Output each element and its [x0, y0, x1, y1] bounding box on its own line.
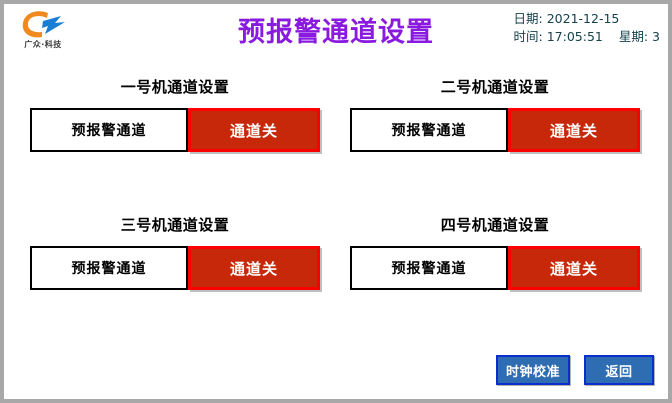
channel-label-1: 预报警通道 — [30, 108, 188, 152]
channel-panel-2: 二号机通道设置 预报警通道 通道关 — [350, 76, 640, 168]
clock-calibrate-button[interactable]: 时钟校准 — [496, 355, 570, 385]
date-label: 日期: — [514, 11, 543, 26]
panel-title-2: 二号机通道设置 — [350, 76, 640, 97]
panel-title-3: 三号机通道设置 — [30, 214, 320, 235]
panel-row-4: 预报警通道 通道关 — [350, 246, 640, 290]
time-value: 17:05:51 — [547, 29, 603, 44]
channel-panels-grid: 一号机通道设置 预报警通道 通道关 二号机通道设置 预报警通道 通道关 三号机通… — [4, 66, 668, 326]
channel-panel-3: 三号机通道设置 预报警通道 通道关 — [30, 214, 320, 306]
channel-label-3: 预报警通道 — [30, 246, 188, 290]
datetime-display: 日期: 2021-12-15 时间: 17:05:51 星期: 3 — [514, 10, 660, 46]
channel-label-2: 预报警通道 — [350, 108, 508, 152]
app-window: 广众·科技 预报警通道设置 日期: 2021-12-15 时间: 17:05:5… — [0, 0, 672, 403]
panel-row-1: 预报警通道 通道关 — [30, 108, 320, 152]
date-value: 2021-12-15 — [547, 11, 620, 26]
channel-state-toggle-4[interactable]: 通道关 — [508, 246, 640, 290]
channel-panel-4: 四号机通道设置 预报警通道 通道关 — [350, 214, 640, 306]
panel-title-1: 一号机通道设置 — [30, 76, 320, 97]
back-button[interactable]: 返回 — [584, 355, 654, 385]
channel-state-toggle-2[interactable]: 通道关 — [508, 108, 640, 152]
weekday-label: 星期: — [619, 29, 648, 44]
header-bar: 广众·科技 预报警通道设置 日期: 2021-12-15 时间: 17:05:5… — [4, 4, 668, 60]
channel-state-toggle-3[interactable]: 通道关 — [188, 246, 320, 290]
weekday-value: 3 — [652, 29, 660, 44]
channel-label-4: 预报警通道 — [350, 246, 508, 290]
channel-state-toggle-1[interactable]: 通道关 — [188, 108, 320, 152]
panel-row-3: 预报警通道 通道关 — [30, 246, 320, 290]
time-row: 时间: 17:05:51 星期: 3 — [514, 28, 660, 46]
date-row: 日期: 2021-12-15 — [514, 10, 660, 28]
action-button-bar: 时钟校准 返回 — [496, 355, 654, 385]
panel-title-4: 四号机通道设置 — [350, 214, 640, 235]
panel-row-2: 预报警通道 通道关 — [350, 108, 640, 152]
channel-panel-1: 一号机通道设置 预报警通道 通道关 — [30, 76, 320, 168]
time-label: 时间: — [514, 29, 543, 44]
